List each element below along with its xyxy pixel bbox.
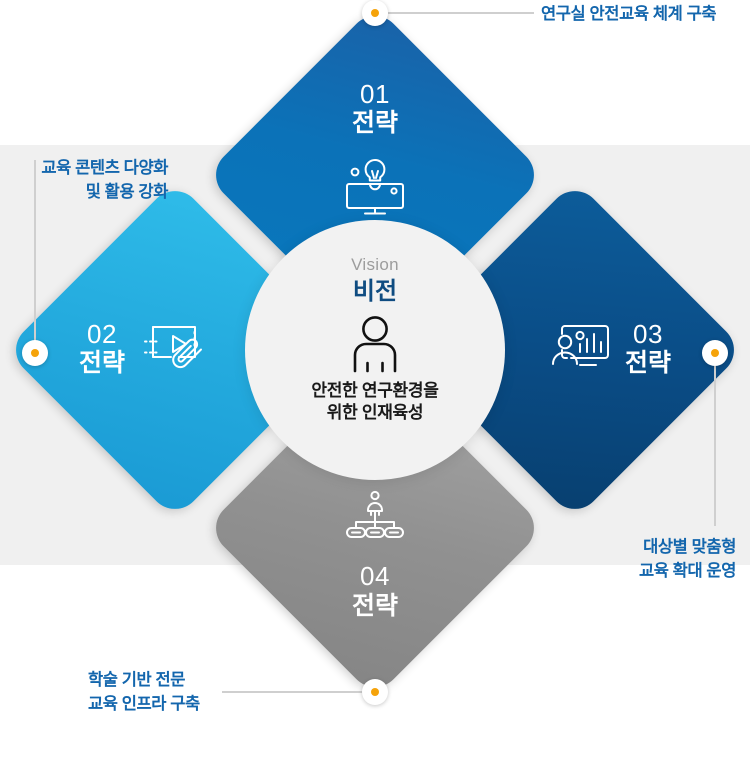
connector-dot-left[interactable] [22,340,48,366]
callout-03-line2: 교육 확대 운영 [578,560,736,584]
strategy-03-number: 03 [633,321,663,348]
vision-label-en: Vision [351,256,399,273]
connector-line-top [388,12,534,14]
vision-description-line1: 안전한 연구환경을 [311,380,438,402]
callout-04-line2: 교육 인프라 구축 [88,693,248,717]
person-bar-chart-icon [547,320,611,381]
callout-01-line1: 연구실 안전교육 체계 구축 [541,3,746,27]
strategy-01-number: 01 [360,81,390,108]
lightbulb-monitor-icon [343,158,407,221]
org-chart-icon [344,490,406,547]
strategy-02-label: 전략 [79,348,125,379]
callout-03-line1: 대상별 맞춤형 [578,536,736,560]
person-icon [349,315,401,378]
vision-label-ko: 비전 [353,279,397,305]
callout-strategy-01: 연구실 안전교육 체계 구축 [541,3,746,27]
strategy-04-label: 전략 [352,591,398,622]
vision-circle: Vision 비전 안전한 연구환경을 위한 인재육성 [245,220,505,480]
callout-strategy-03: 대상별 맞춤형 교육 확대 운영 [578,536,736,584]
connector-dot-bottom[interactable] [362,679,388,705]
strategy-01-label: 전략 [352,108,398,139]
vision-description: 안전한 연구환경을 위한 인재육성 [311,380,438,424]
connector-dot-right[interactable] [702,340,728,366]
callout-strategy-02: 교육 콘텐츠 다양화 및 활용 강화 [8,157,168,205]
callout-02-line1: 교육 콘텐츠 다양화 [8,157,168,181]
callout-02-line2: 및 활용 강화 [8,181,168,205]
strategy-04-number: 04 [360,563,390,590]
video-attachment-icon [139,319,205,382]
vision-description-line2: 위한 인재육성 [311,402,438,424]
strategy-03-label: 전략 [625,348,671,379]
vision-strategy-infographic: 01 전략 02 전략 [0,0,750,720]
callout-strategy-04: 학술 기반 전문 교육 인프라 구축 [88,669,248,717]
connector-dot-top[interactable] [362,0,388,26]
strategy-02-number: 02 [87,321,117,348]
callout-04-line1: 학술 기반 전문 [88,669,248,693]
connector-line-right [714,366,716,526]
